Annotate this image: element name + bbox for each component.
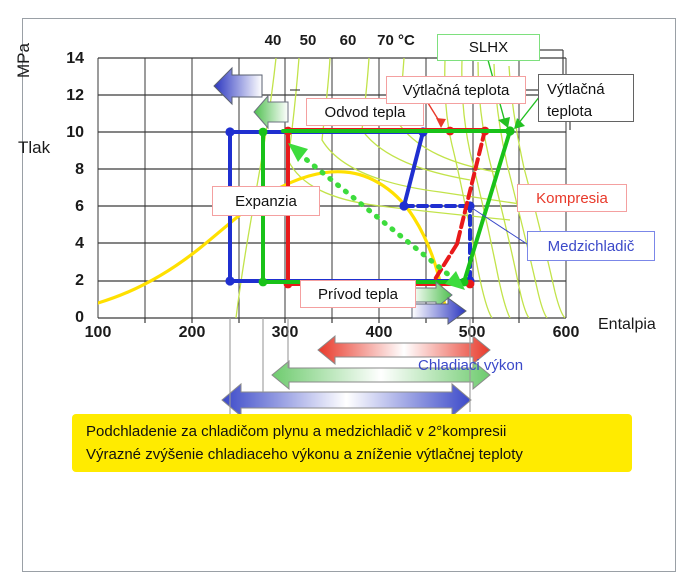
slide-root: MPa Tlak Entalpia 14 12 10 8 6 4 2 0 100… — [0, 0, 700, 484]
callout-medzichladic[interactable]: Medzichladič — [527, 231, 655, 261]
summary-banner-line2: Výrazné zvýšenie chladiaceho výkonu a zn… — [86, 443, 618, 466]
callout-vytlacna-teplota-inline[interactable]: Výtlačná teplota — [386, 76, 526, 104]
callout-expanzia[interactable]: Expanzia — [212, 186, 320, 216]
callout-privod-tepla[interactable]: Prívod tepla — [300, 280, 416, 308]
callout-vytlacna-teplota-box-line2: teplota — [547, 101, 625, 123]
summary-banner-line1: Podchladenie za chladičom plynu a medzic… — [86, 420, 618, 443]
arrow-blue-left-top — [214, 68, 262, 104]
callout-kompresia-label: Kompresia — [536, 190, 608, 207]
callout-chladiaci-vykon: Chladiaci výkon — [418, 357, 523, 374]
callout-vytlacna-teplota-box-line1: Výtlačná — [547, 79, 625, 101]
callout-expanzia-label: Expanzia — [235, 193, 297, 210]
summary-banner: Podchladenie za chladičom plynu a medzic… — [72, 414, 632, 472]
callout-kompresia[interactable]: Kompresia — [517, 184, 627, 212]
callout-odvod-tepla-label: Odvod tepla — [325, 104, 406, 121]
slhx-dotted-line — [288, 143, 465, 290]
callout-vytlacna-teplota-inline-label: Výtlačná teplota — [403, 82, 510, 99]
capacity-arrow-blue — [222, 384, 471, 416]
callout-privod-tepla-label: Prívod tepla — [318, 286, 398, 303]
callout-medzichladic-label: Medzichladič — [548, 238, 635, 255]
callout-slhx[interactable]: SLHX — [437, 34, 540, 61]
callout-slhx-label: SLHX — [469, 39, 508, 56]
callout-vytlacna-teplota-box[interactable]: Výtlačná teplota — [538, 74, 634, 122]
